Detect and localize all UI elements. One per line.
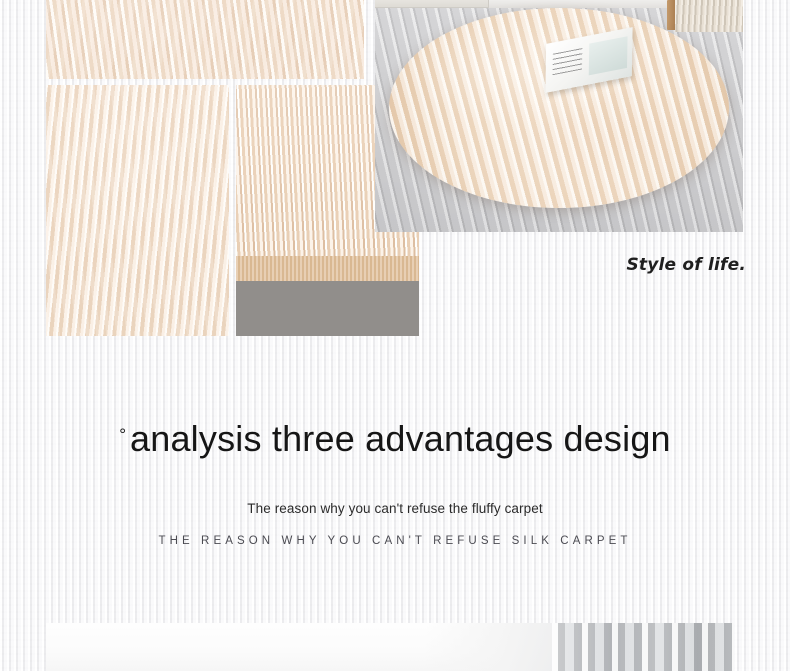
eyebrow-caption: THE REASON WHY YOU CAN'T REFUSE SILK CAR… [0, 535, 790, 547]
throw-fringe [675, 0, 743, 32]
photo-bottom-curtain[interactable] [552, 623, 734, 671]
style-of-life-caption: Style of life. [626, 255, 746, 275]
page-title: °analysis three advantages design [0, 418, 790, 459]
rug-edge-pile [386, 5, 732, 211]
degree-mark-icon: ° [119, 425, 126, 444]
photo-round-rug-room[interactable] [375, 0, 743, 232]
magazine-text-lines [553, 48, 583, 76]
page-title-text: analysis three advantages design [130, 418, 671, 459]
fur-texture [46, 0, 364, 79]
subheading: The reason why you can't refuse the fluf… [0, 501, 790, 516]
photo-fur-texture-left[interactable] [46, 85, 229, 336]
round-shag-rug [389, 8, 729, 208]
photo-fur-closeup-wide[interactable] [46, 0, 364, 79]
magazine-image-panel [589, 36, 628, 76]
fur-texture [46, 85, 229, 336]
product-page-root: Style of life. °analysis three advantage… [0, 0, 790, 671]
furniture-panel [375, 0, 489, 8]
wood-floor [236, 281, 419, 336]
headline-block: °analysis three advantages design [0, 418, 790, 459]
